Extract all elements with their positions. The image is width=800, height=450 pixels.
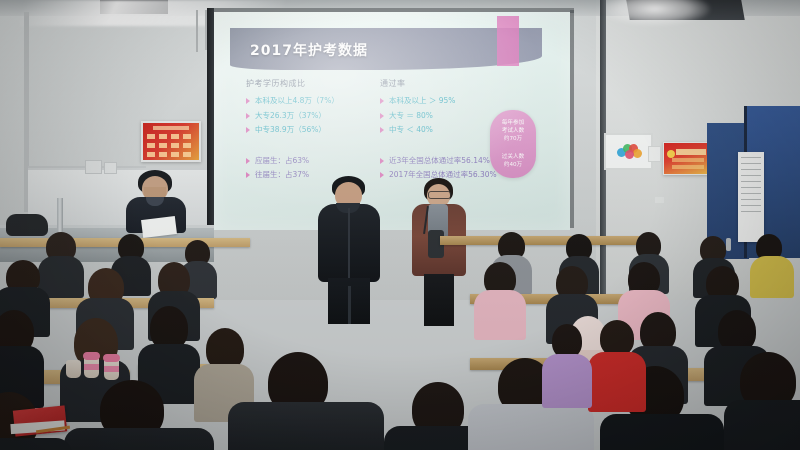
badge-line-5: 约40万: [490, 161, 536, 169]
list-item: 大专26.3万（37%）: [246, 110, 386, 122]
paper-cup: [66, 360, 81, 378]
right-column-heading: 通过率: [380, 78, 530, 89]
left-column-heading: 护考学历构成比: [246, 78, 386, 89]
wall-mark: [655, 197, 664, 203]
left-column-list-1: 本科及以上4.8万（7%） 大专26.3万（37%） 中专38.9万（56%）: [246, 95, 386, 136]
wall-note: [648, 146, 661, 162]
poster-text-row: [147, 152, 195, 157]
cup-band: [104, 366, 119, 372]
desk-row: [440, 236, 640, 245]
poster-seal-icon: [667, 150, 675, 158]
emblem-icon: [617, 144, 641, 160]
poster-title-line: [153, 126, 189, 130]
notice-line: [741, 187, 761, 188]
spacer: [246, 139, 386, 154]
list-item: 本科及以上4.8万（7%）: [246, 95, 386, 107]
slide-title: 2017年护考数据: [250, 40, 368, 60]
notice-line: [741, 199, 761, 200]
red-banner-poster: [663, 142, 713, 175]
poster-title-line: [676, 149, 706, 155]
slide-statistic-badge: 每年参加 考试人数 约70万 过关人数 约40万: [490, 110, 536, 178]
audience-area: [0, 232, 800, 450]
slide-accent-rectangle: [497, 16, 519, 66]
badge-line-2: 考试人数: [490, 127, 536, 135]
notice-line: [741, 163, 761, 164]
poster-text-row: [672, 165, 704, 169]
projector-screen: 2017年护考数据 护考学历构成比 本科及以上4.8万（7%） 大专26.3万（…: [214, 12, 570, 230]
notice-line: [741, 175, 761, 176]
badge-line-3: 约70万: [490, 135, 536, 143]
emblem-dot: [633, 149, 642, 158]
ceiling-wire: [196, 10, 198, 52]
list-item: 应届生：占63%: [246, 155, 386, 167]
cup-band: [84, 364, 99, 370]
red-honor-poster: [141, 121, 201, 162]
door-notice-sheet: [738, 152, 764, 242]
wall-socket: [104, 162, 117, 174]
poster-text-row: [147, 143, 195, 148]
microphone-stand: [57, 198, 63, 232]
cup-lid: [103, 354, 120, 362]
glasses-icon: [428, 191, 451, 199]
emblem-dot: [625, 150, 634, 159]
classroom-photo: 2017年护考数据 护考学历构成比 本科及以上4.8万（7%） 大专26.3万（…: [0, 0, 800, 450]
badge-line-4: 过关人数: [490, 153, 536, 161]
notice-line: [741, 193, 761, 194]
notice-line: [741, 157, 761, 158]
notice-line: [741, 205, 761, 206]
pink-thermos-cup: [84, 356, 99, 378]
notice-line: [741, 181, 761, 182]
screen-frame-left: [207, 8, 214, 230]
wall-socket: [85, 160, 102, 174]
list-item: 中专38.9万（56%）: [246, 124, 386, 136]
speaker-at-podium: [118, 170, 196, 232]
color-dots-emblem-poster: [604, 133, 653, 170]
pink-thermos-cup: [104, 358, 119, 380]
badge-line-1: 每年参加: [490, 119, 536, 127]
screen-frame-right: [570, 10, 574, 228]
poster-text-row: [672, 158, 704, 162]
notice-line: [741, 169, 761, 170]
poster-text-row: [147, 134, 195, 139]
list-item: 本科及以上 ＞ 95%: [380, 95, 530, 107]
notice-line: [741, 211, 761, 212]
cup-lid: [83, 352, 100, 360]
slide-left-column: 护考学历构成比 本科及以上4.8万（7%） 大专26.3万（37%） 中专38.…: [246, 78, 386, 184]
